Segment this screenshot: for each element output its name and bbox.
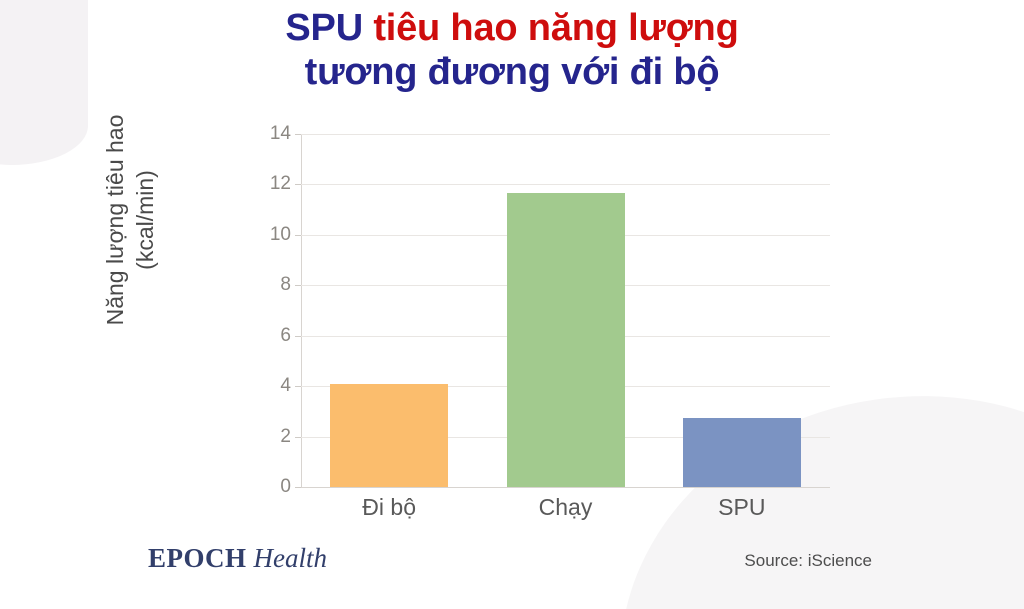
epoch-health-logo: EPOCHHealth (148, 543, 327, 574)
chart-title-line-1-blue: SPU (285, 7, 373, 49)
x-axis-tick-label: Đi bộ (362, 494, 416, 521)
bar-2 (507, 193, 625, 487)
y-axis-tick-label: 10 (251, 224, 291, 246)
y-axis-tick-mark (295, 487, 301, 488)
y-axis-title-line-2: (kcal/min) (130, 70, 160, 370)
y-axis-tick-label: 8 (251, 274, 291, 296)
y-axis-tick-label: 0 (251, 476, 291, 498)
x-axis-tick-label: Chạy (539, 494, 593, 521)
y-axis-tick-mark (295, 285, 301, 286)
chart-title-line-1: SPU tiêu hao năng lượng (0, 6, 1024, 50)
chart-title-line-1-red: tiêu hao năng lượng (373, 7, 738, 49)
source-attribution: Source: iScience (744, 551, 872, 571)
y-axis-tick-mark (295, 336, 301, 337)
y-axis-tick-label: 4 (251, 375, 291, 397)
chart-title: SPU tiêu hao năng lượng tương đương với … (0, 6, 1024, 94)
x-axis-tick-label: SPU (718, 494, 765, 521)
y-axis-tick-mark (295, 386, 301, 387)
y-axis-tick-mark (295, 437, 301, 438)
logo-epoch-text: EPOCH (148, 543, 247, 573)
y-axis-tick-mark (295, 235, 301, 236)
y-axis-tick-label: 12 (251, 173, 291, 195)
y-axis-tick-labels: 02468101214 (241, 134, 291, 487)
y-axis-tick-mark (295, 184, 301, 185)
gridline (301, 134, 830, 135)
bar-3 (683, 418, 801, 487)
y-axis-tick-mark (295, 134, 301, 135)
chart-title-line-2: tương đương với đi bộ (0, 50, 1024, 94)
plot-area (301, 134, 830, 487)
bar-1 (330, 384, 448, 487)
y-axis-title-line-1: Năng lượng tiêu hao (100, 70, 130, 370)
gridline (301, 184, 830, 185)
footer: EPOCHHealth Source: iScience (0, 529, 1024, 609)
chart-page: SPU tiêu hao năng lượng tương đương với … (0, 0, 1024, 609)
y-axis-title: Năng lượng tiêu hao (kcal/min) (100, 70, 160, 370)
y-axis-tick-label: 2 (251, 426, 291, 448)
y-axis-tick-label: 14 (251, 123, 291, 145)
gridline (301, 487, 830, 488)
y-axis-tick-label: 6 (251, 325, 291, 347)
logo-health-text: Health (254, 543, 328, 573)
